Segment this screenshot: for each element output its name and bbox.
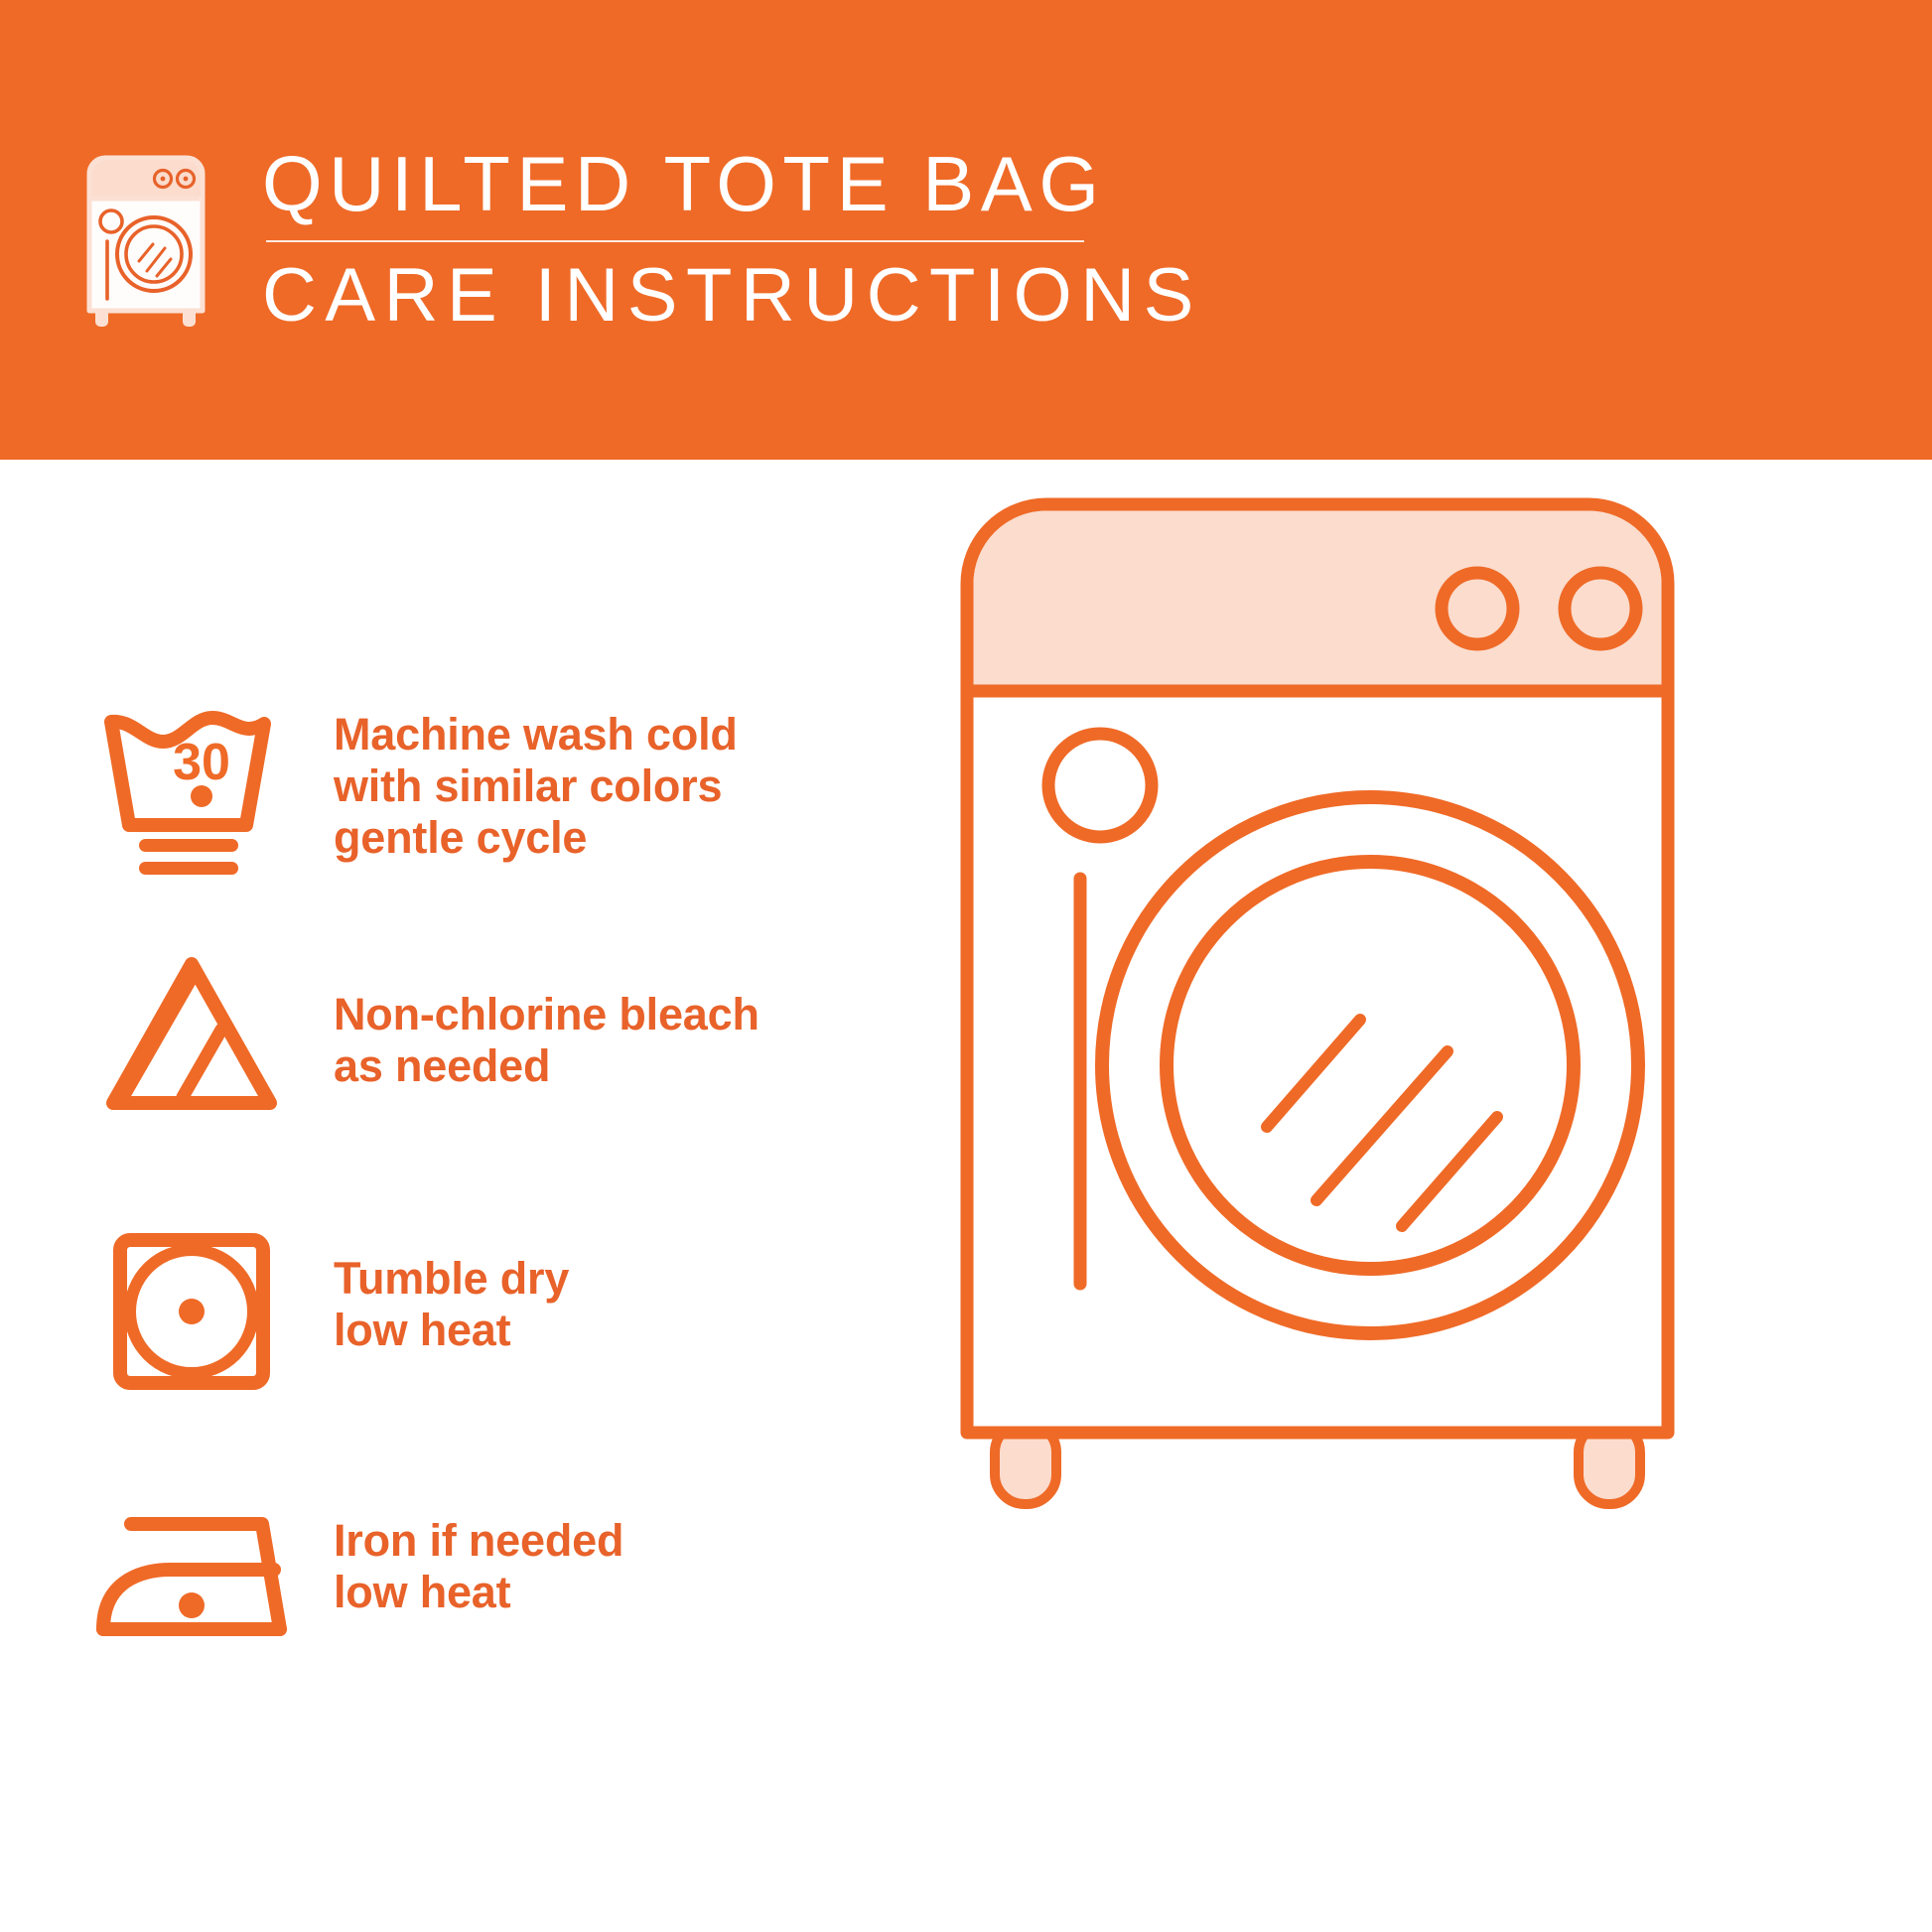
wash-tub-30-gentle-icon: 30 xyxy=(85,680,298,893)
care-item-label: Tumble dry low heat xyxy=(334,1253,569,1356)
large-washing-machine-illustration xyxy=(953,489,1866,1512)
header-content: QUILTED TOTE BAG CARE INSTRUCTIONS xyxy=(75,143,1202,336)
care-item-bleach: Non-chlorine bleach as needed xyxy=(85,934,759,1147)
care-item-label: Iron if needed low heat xyxy=(334,1515,623,1618)
page-subtitle: CARE INSTRUCTIONS xyxy=(262,252,1202,336)
iron-low-heat-icon xyxy=(85,1460,298,1673)
main-content: 30 Machine wash cold with similar colors… xyxy=(0,460,1932,1932)
care-item-label: Non-chlorine bleach as needed xyxy=(334,989,759,1092)
title-divider xyxy=(266,240,1084,242)
care-instruction-list: 30 Machine wash cold with similar colors… xyxy=(0,460,953,1932)
care-item-iron: Iron if needed low heat xyxy=(85,1460,623,1673)
care-item-tumble-dry: Tumble dry low heat xyxy=(85,1198,569,1411)
washing-machine-icon xyxy=(75,150,222,329)
wash-temperature-label: 30 xyxy=(173,734,230,791)
care-item-machine-wash: 30 Machine wash cold with similar colors… xyxy=(85,680,738,893)
header-title-group: QUILTED TOTE BAG CARE INSTRUCTIONS xyxy=(262,143,1202,336)
care-item-label: Machine wash cold with similar colors ge… xyxy=(334,709,738,864)
page-title: QUILTED TOTE BAG xyxy=(262,143,1202,232)
tumble-dry-low-heat-icon xyxy=(85,1198,298,1411)
non-chlorine-bleach-triangle-icon xyxy=(85,934,298,1147)
header-banner: QUILTED TOTE BAG CARE INSTRUCTIONS xyxy=(0,0,1932,460)
